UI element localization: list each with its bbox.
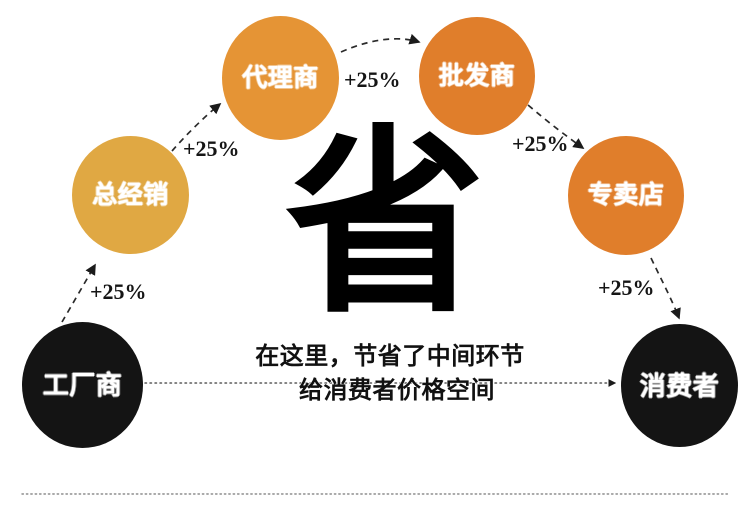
edge-label-store-to-consumer: +25% bbox=[598, 277, 655, 299]
node-xiaofeizhe[interactable]: 消费者 bbox=[621, 324, 738, 447]
arrow-store-to-consumer bbox=[651, 258, 679, 318]
node-zongjingxiao[interactable]: 总经销 bbox=[72, 136, 189, 254]
arrow-agent-to-wholesaler bbox=[341, 39, 419, 52]
node-zhuanmaidian[interactable]: 专卖店 bbox=[568, 136, 684, 255]
node-label-xiaofeizhe: 消费者 bbox=[640, 373, 720, 399]
node-label-dailishang: 代理商 bbox=[242, 66, 319, 91]
edge-label-factory-to-distributor: +25% bbox=[90, 281, 147, 303]
node-label-pifashang: 批发商 bbox=[439, 64, 516, 89]
headline-glyph: 省 bbox=[290, 125, 480, 325]
node-label-zongjingxiao: 总经销 bbox=[92, 183, 169, 208]
center-caption: 在这里，节省了中间环节 给消费者价格空间 bbox=[200, 340, 580, 408]
edge-label-distributor-to-agent: +25% bbox=[183, 138, 240, 160]
caption-line-2: 给消费者价格空间 bbox=[200, 374, 580, 408]
edge-label-wholesaler-to-store: +25% bbox=[512, 133, 569, 155]
edge-label-agent-to-wholesaler: +25% bbox=[344, 69, 401, 91]
node-label-gongchang: 工厂商 bbox=[43, 372, 123, 398]
diagram-canvas: 总经销 代理商 批发商 专卖店 工厂商 消费者 省 +25% +25% +25%… bbox=[0, 0, 750, 521]
caption-line-1: 在这里，节省了中间环节 bbox=[200, 340, 580, 374]
node-gongchang[interactable]: 工厂商 bbox=[22, 322, 143, 448]
node-label-zhuanmaidian: 专卖店 bbox=[588, 183, 665, 208]
